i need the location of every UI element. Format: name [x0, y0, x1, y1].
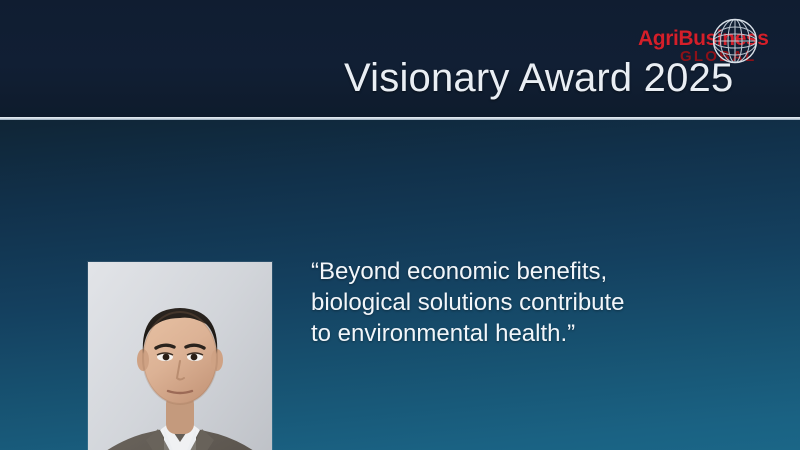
portrait-photo — [88, 262, 272, 450]
quote-line-1: “Beyond economic benefits, — [311, 256, 711, 287]
quote-line-3: to environmental health.” — [311, 318, 711, 349]
quote-line-2: biological solutions contribute — [311, 287, 711, 318]
slide-header: Visionary Award 2025 AgriBusiness GLOBAL — [0, 0, 800, 117]
visionary-award-slide: Visionary Award 2025 AgriBusiness GLOBAL — [0, 0, 800, 450]
globe-wireframe-icon — [710, 16, 760, 66]
slide-body: “Beyond economic benefits, biological so… — [0, 120, 800, 450]
agribusiness-global-logo: AgriBusiness GLOBAL — [638, 12, 796, 66]
quote-text: “Beyond economic benefits, biological so… — [311, 256, 711, 349]
